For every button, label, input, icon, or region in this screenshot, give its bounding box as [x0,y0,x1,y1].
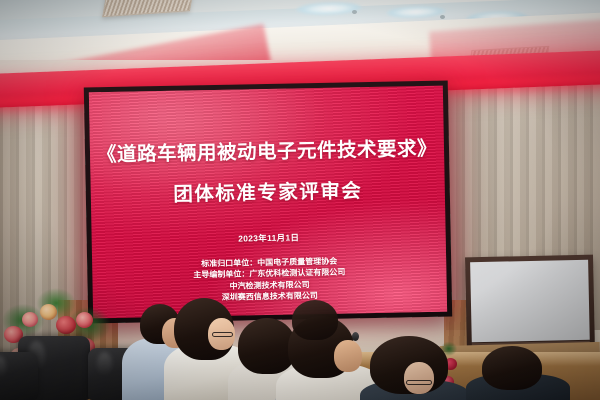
flower-petal [56,316,76,334]
chair-highlight [0,356,6,378]
attendee [364,340,464,400]
led-screen: 《道路车辆用被动电子元件技术要求》 团体标准专家评审会 2023年11月1日 标… [89,86,447,319]
chair-highlight [97,352,112,376]
conference-room-photo: 《道路车辆用被动电子元件技术要求》 团体标准专家评审会 2023年11月1日 标… [0,0,600,400]
flower-petal [76,312,93,328]
attendee-head [334,340,362,372]
attendee [292,290,344,336]
led-screen-bezel: 《道路车辆用被动电子元件技术要求》 团体标准专家评审会 2023年11月1日 标… [84,81,452,324]
ceiling-fixture-dot [352,10,357,14]
attendee-head [404,362,434,394]
ceiling-fixture-dot [440,15,445,19]
slide-title-line-2: 团体标准专家评审会 [173,174,363,207]
attendee-hair [292,300,338,340]
chair [0,352,38,400]
flower-petal [22,312,38,327]
slide-content: 《道路车辆用被动电子元件技术要求》 团体标准专家评审会 2023年11月1日 标… [89,86,447,319]
eyeglasses [406,380,432,385]
whiteboard-surface [470,260,590,342]
slide-date: 2023年11月1日 [238,231,299,244]
attendee [466,352,562,400]
slide-title-line-1: 《道路车辆用被动电子元件技术要求》 [97,132,438,168]
attendee-hair [482,346,542,390]
whiteboard [465,255,595,354]
flower-petal [40,304,57,320]
